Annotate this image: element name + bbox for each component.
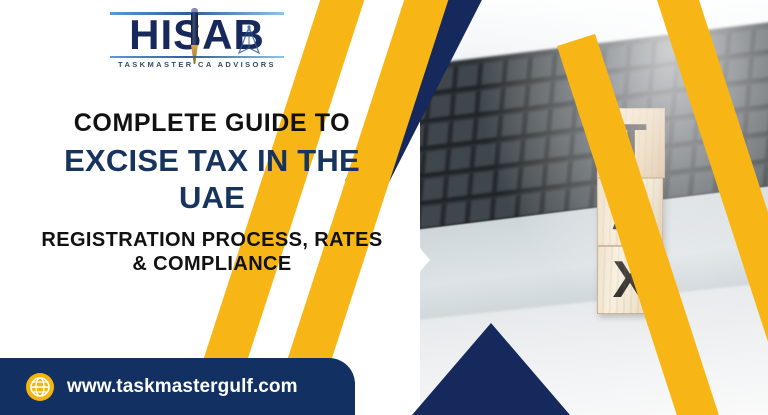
headline-block: COMPLETE GUIDE TO EXCISE TAX IN THE UAE … [36,108,388,276]
logo-bottom-rule [110,56,284,58]
website-url-bar[interactable]: www.taskmastergulf.com [0,358,355,415]
headline-line-2: EXCISE TAX IN THE UAE [36,142,388,216]
compass-icon [232,24,266,58]
website-url-text: www.taskmastergulf.com [67,376,298,398]
tax-letter-blocks: T A X [597,108,663,314]
letter-block-a: A [597,178,663,246]
letter-block-x: X [597,246,663,314]
excise-tax-guide-banner: T A X HISAB TASKMASTER CA ADVISORS COMPL… [0,0,768,415]
headline-line-1: COMPLETE GUIDE TO [36,108,388,138]
logo-tagline: TASKMASTER CA ADVISORS [104,60,290,69]
pen-body [191,12,198,46]
hisab-logo[interactable]: HISAB TASKMASTER CA ADVISORS [104,6,290,80]
laptop-tax-blocks-photo: T A X [420,0,768,415]
headline-line-3: REGISTRATION PROCESS, RATES & COMPLIANCE [36,228,388,276]
letter-block-t: T [597,108,665,178]
globe-icon [26,373,54,401]
